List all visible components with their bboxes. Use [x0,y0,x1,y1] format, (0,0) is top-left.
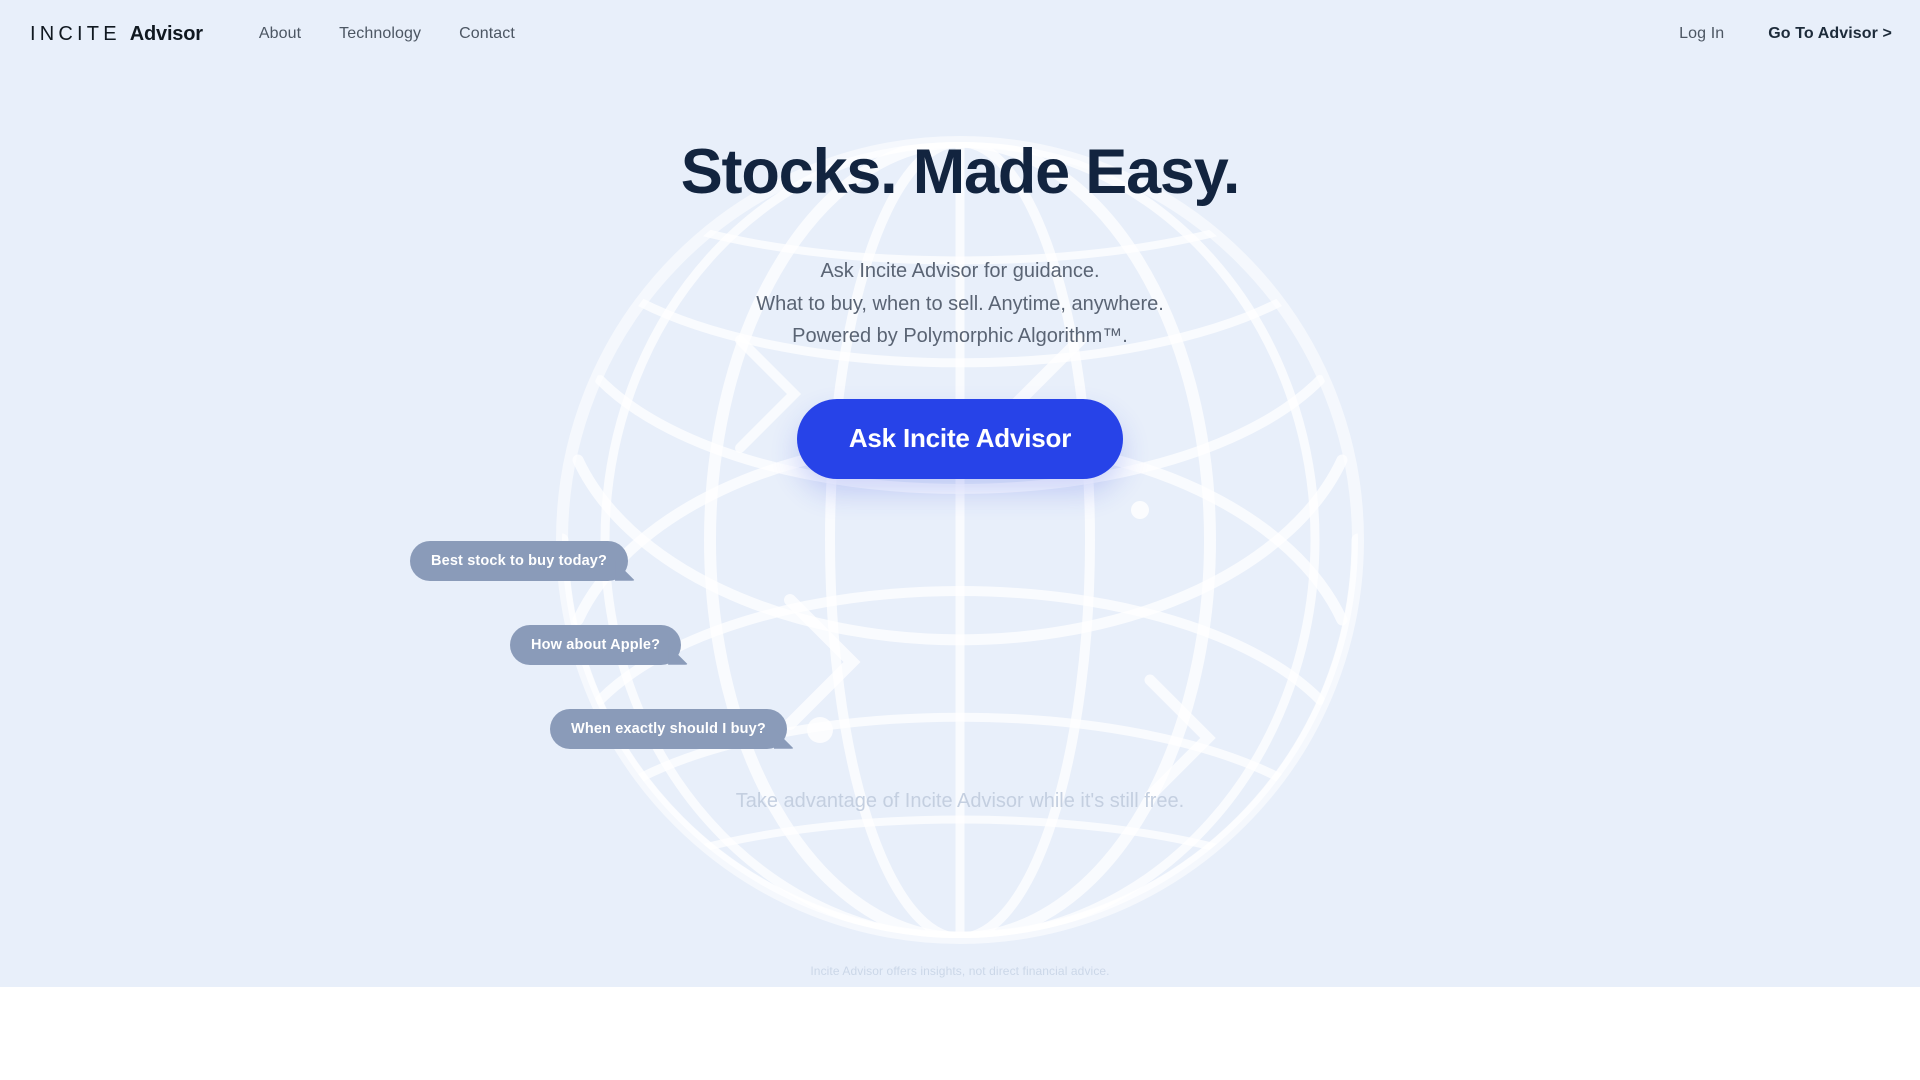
nav-link-technology[interactable]: Technology [339,25,421,43]
primary-nav-links: About Technology Contact [259,25,515,43]
secondary-nav-links: Log In Go To Advisor > [1679,25,1892,43]
sample-question-bubble[interactable]: How about Apple? [510,625,681,665]
nav-link-contact[interactable]: Contact [459,25,515,43]
ask-incite-advisor-button[interactable]: Ask Incite Advisor [797,399,1123,479]
hero-section: Stocks. Made Easy. Ask Incite Advisor fo… [0,68,1920,479]
brand-logo-advisor: Advisor [130,23,203,46]
hero-subheading-line-1: Ask Incite Advisor for guidance. [0,255,1920,288]
cta-container: Ask Incite Advisor [0,399,1920,479]
nav-link-about[interactable]: About [259,25,301,43]
legal-disclaimer: Incite Advisor offers insights, not dire… [0,964,1920,978]
hero-subheading-line-3: Powered by Polymorphic Algorithm™. [0,320,1920,353]
hero-subheading-line-2: What to buy, when to sell. Anytime, anyw… [0,288,1920,321]
brand-logo[interactable]: INCITE Advisor [30,23,203,46]
hero-subheading: Ask Incite Advisor for guidance. What to… [0,255,1920,353]
sample-questions-group: Best stock to buy today? How about Apple… [0,523,1920,738]
page-title: Stocks. Made Easy. [0,138,1920,207]
free-offer-tagline: Take advantage of Incite Advisor while i… [0,790,1920,813]
sample-question-bubble[interactable]: When exactly should I buy? [550,709,787,749]
sample-question-bubble[interactable]: Best stock to buy today? [410,541,628,581]
landing-page: INCITE Advisor About Technology Contact … [0,0,1920,987]
login-link[interactable]: Log In [1679,25,1724,43]
top-navigation-bar: INCITE Advisor About Technology Contact … [0,0,1920,68]
go-to-advisor-link[interactable]: Go To Advisor > [1768,25,1892,43]
brand-logo-incite: INCITE [30,23,121,46]
